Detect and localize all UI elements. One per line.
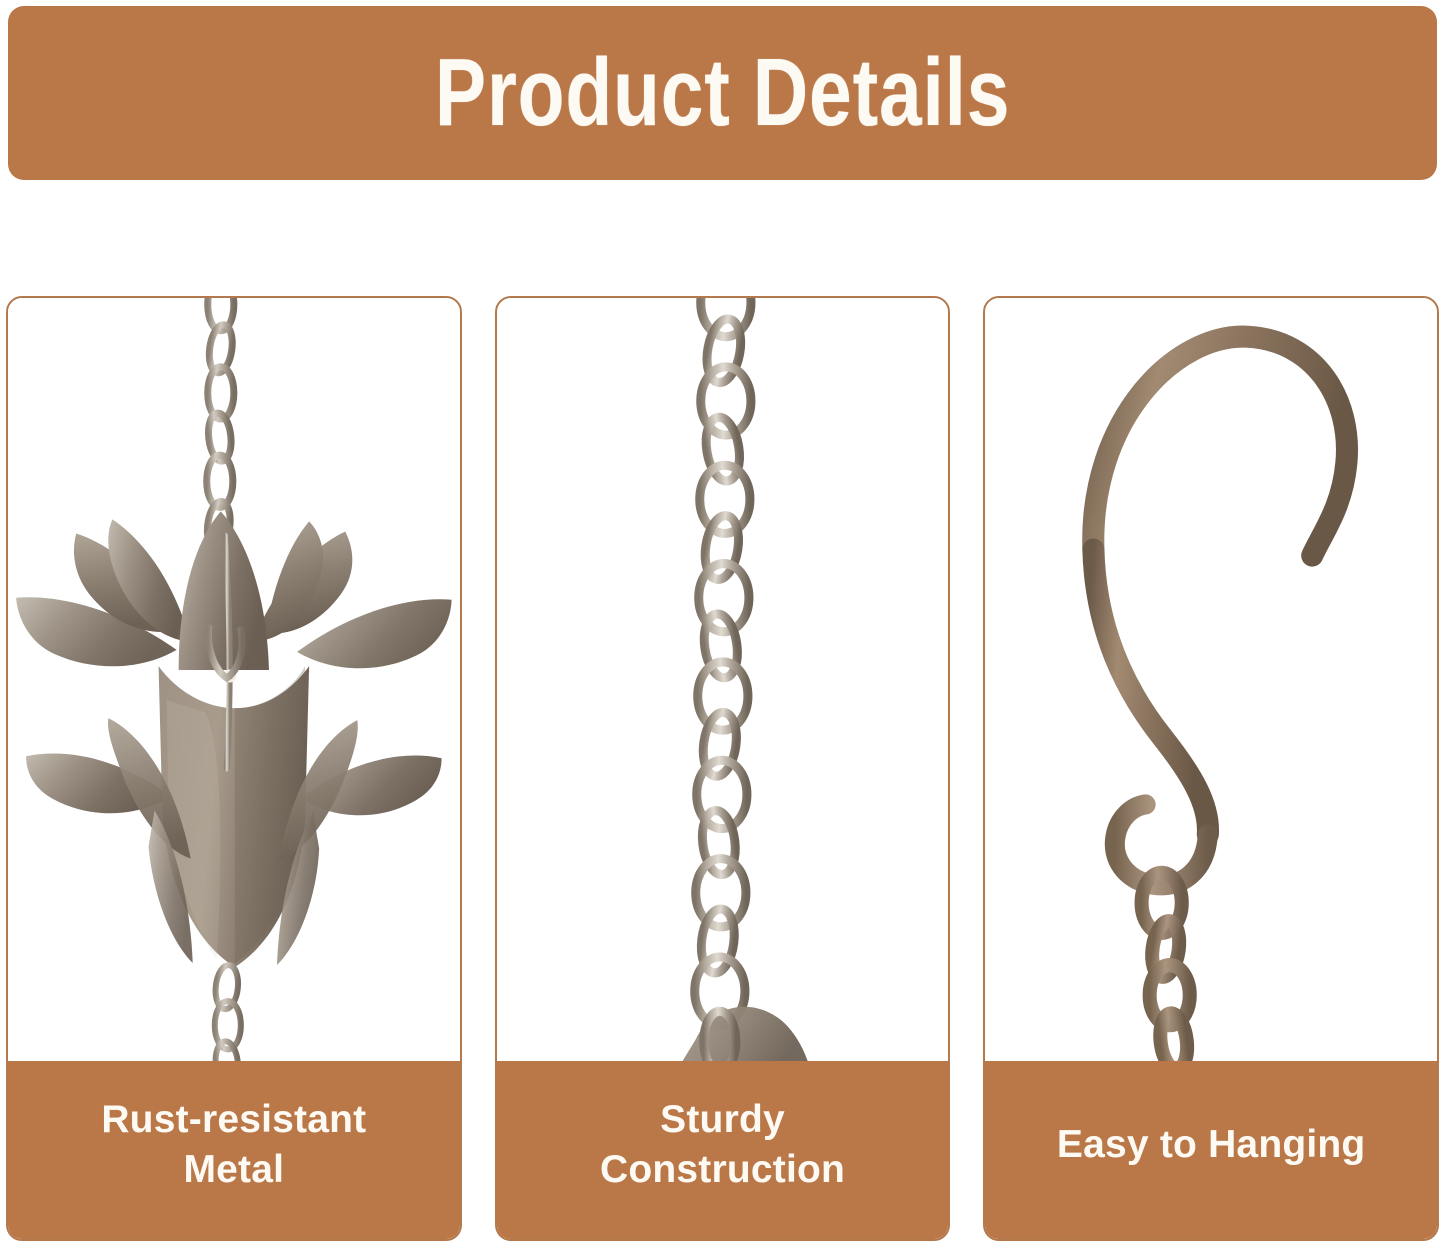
flower-cup-photo [8, 298, 460, 1061]
caption-line-1: Sturdy [600, 1095, 845, 1145]
caption-line-2: Construction [600, 1145, 845, 1195]
detail-card-easy-to-hanging[interactable]: Easy to Hanging [983, 296, 1439, 1241]
metal-lily-flower-icon [8, 298, 460, 1061]
detail-card-rust-resistant-metal[interactable]: Rust-resistant Metal [6, 296, 462, 1241]
s-hook-photo [985, 298, 1437, 1061]
caption-rust-resistant-metal: Rust-resistant Metal [8, 1061, 460, 1239]
caption-line-1: Easy to Hanging [1057, 1120, 1366, 1170]
page-title: Product Details [435, 45, 1010, 141]
caption-line-2: Metal [101, 1145, 366, 1195]
metal-chain-icon [497, 298, 949, 1061]
detail-card-sturdy-construction[interactable]: Sturdy Construction [495, 296, 951, 1241]
caption-sturdy-construction: Sturdy Construction [497, 1061, 949, 1239]
product-detail-card-row: Rust-resistant Metal [0, 296, 1445, 1241]
chain-closeup-photo [497, 298, 949, 1061]
caption-line-1: Rust-resistant [101, 1095, 366, 1145]
s-hook-icon [985, 298, 1437, 1061]
caption-easy-to-hanging: Easy to Hanging [985, 1061, 1437, 1239]
page-header-banner: Product Details [8, 6, 1437, 180]
